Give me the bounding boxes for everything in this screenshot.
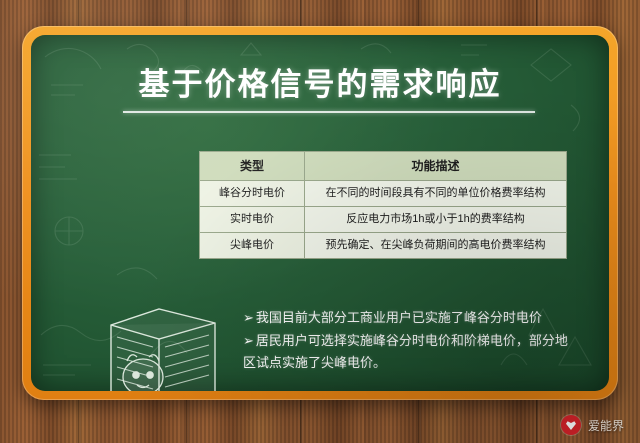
slide-background: 基于价格信号的需求响应 [0,0,640,443]
list-item-text: 我国目前大部分工商业用户已实施了峰谷分时电价 [256,310,542,325]
arrow-bullet-icon: ➢ [243,310,254,325]
info-table-container: 类型 功能描述 峰谷分时电价 在不同的时间段具有不同的单位价格费率结构 实时电价… [199,151,567,259]
watermark-label: 爱能界 [588,417,624,434]
table-row: 实时电价 反应电力市场1h或小于1h的费率结构 [200,207,567,233]
brand-logo-icon [561,415,581,435]
table-cell-type: 峰谷分时电价 [200,181,305,207]
table-row: 尖峰电价 预先确定、在尖峰负荷期间的高电价费率结构 [200,232,567,258]
bullet-list: ➢我国目前大部分工商业用户已实施了峰谷分时电价 ➢居民用户可选择实施峰谷分时电价… [243,307,571,375]
table-cell-desc: 预先确定、在尖峰负荷期间的高电价费率结构 [305,232,567,258]
watermark: 爱能界 [561,415,624,435]
table-cell-desc: 反应电力市场1h或小于1h的费率结构 [305,207,567,233]
table-cell-type: 实时电价 [200,207,305,233]
info-table: 类型 功能描述 峰谷分时电价 在不同的时间段具有不同的单位价格费率结构 实时电价… [199,151,567,259]
table-cell-desc: 在不同的时间段具有不同的单位价格费率结构 [305,181,567,207]
title-underline [123,111,535,113]
blackboard-frame: 基于价格信号的需求响应 [22,26,618,400]
table-header-desc: 功能描述 [305,152,567,181]
table-header-type: 类型 [200,152,305,181]
page-title: 基于价格信号的需求响应 [31,59,609,104]
list-item: ➢居民用户可选择实施峰谷分时电价和阶梯电价，部分地区试点实施了尖峰电价。 [243,330,571,373]
list-item-text: 居民用户可选择实施峰谷分时电价和阶梯电价，部分地区试点实施了尖峰电价。 [243,333,568,369]
table-cell-type: 尖峰电价 [200,232,305,258]
table-row: 峰谷分时电价 在不同的时间段具有不同的单位价格费率结构 [200,181,567,207]
table-header-row: 类型 功能描述 [200,152,567,181]
chalk-sketch-box-and-figure [97,289,229,391]
arrow-bullet-icon: ➢ [243,333,254,348]
list-item: ➢我国目前大部分工商业用户已实施了峰谷分时电价 [243,307,571,328]
blackboard: 基于价格信号的需求响应 [31,35,609,391]
